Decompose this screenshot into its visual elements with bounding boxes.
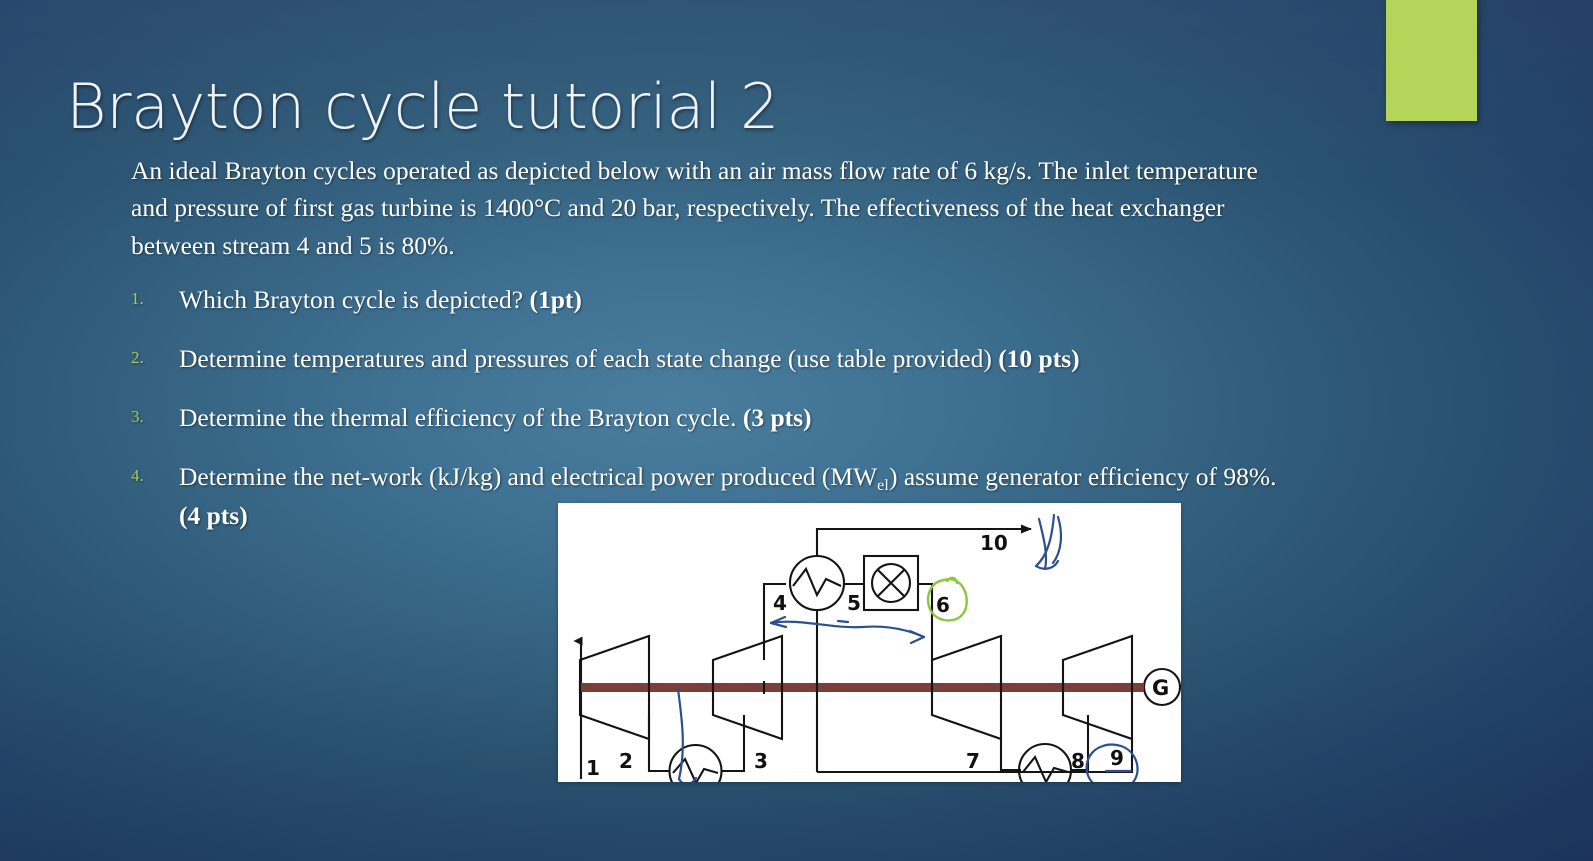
state-label-2: 2	[619, 749, 633, 773]
state-label-1: 1	[586, 756, 600, 780]
generator-label: G	[1152, 676, 1169, 700]
stream-7-line	[1001, 739, 1021, 770]
state-label-6: 6	[936, 593, 950, 617]
intercooler-symbol	[670, 745, 722, 782]
state-label-3: 3	[754, 749, 768, 773]
accent-block	[1386, 0, 1477, 121]
question-marker: 2.	[131, 346, 161, 371]
question-item-1: 1. Which Brayton cycle is depicted? (1pt…	[131, 282, 1296, 319]
state-label-7: 7	[966, 749, 980, 773]
question-points: (3 pts)	[743, 403, 812, 432]
question-text: Determine the thermal efficiency of the …	[179, 403, 743, 432]
question-text-before-subscript: Determine the net-work (kJ/kg) and elect…	[179, 462, 877, 491]
slide-body: An ideal Brayton cycles operated as depi…	[131, 152, 1296, 557]
subscript-el: el	[877, 477, 889, 494]
cycle-diagram-image: 1 2 3 4 5 6 7 8 9 10 G	[558, 503, 1181, 782]
state-label-5: 5	[847, 591, 861, 615]
question-list: 1. Which Brayton cycle is depicted? (1pt…	[131, 282, 1296, 535]
question-marker: 1.	[131, 287, 161, 312]
question-item-2: 2. Determine temperatures and pressures …	[131, 341, 1296, 378]
blue-arrow-flow-4-to-6	[771, 622, 924, 637]
question-marker: 4.	[131, 464, 161, 489]
state-label-8: 8	[1071, 749, 1085, 773]
question-points: (10 pts)	[998, 344, 1079, 373]
question-item-3: 3. Determine the thermal efficiency of t…	[131, 400, 1296, 437]
recuperator-symbol	[790, 556, 844, 610]
state-label-4: 4	[773, 591, 787, 615]
stream-3-line	[721, 715, 744, 771]
stream-2-line	[649, 715, 670, 771]
question-text-after-subscript: ) assume generator efficiency of 98%.	[889, 462, 1277, 491]
cycle-schematic-svg: 1 2 3 4 5 6 7 8 9 10 G	[558, 503, 1181, 782]
reheater-symbol	[1019, 744, 1071, 782]
question-points: (1pt)	[530, 285, 582, 314]
state-label-9: 9	[1110, 746, 1124, 770]
question-text: Which Brayton cycle is depicted?	[179, 285, 530, 314]
question-marker: 3.	[131, 405, 161, 430]
stream-6-line	[918, 584, 932, 660]
state-label-10: 10	[980, 531, 1008, 555]
page-title: Brayton cycle tutorial 2	[66, 74, 1336, 141]
intro-paragraph: An ideal Brayton cycles operated as depi…	[131, 152, 1291, 264]
question-text: Determine temperatures and pressures of …	[179, 344, 998, 373]
slide-canvas: Brayton cycle tutorial 2 An ideal Brayto…	[0, 0, 1593, 861]
combustor-symbol	[864, 556, 918, 610]
question-points: (4 pts)	[179, 501, 248, 530]
